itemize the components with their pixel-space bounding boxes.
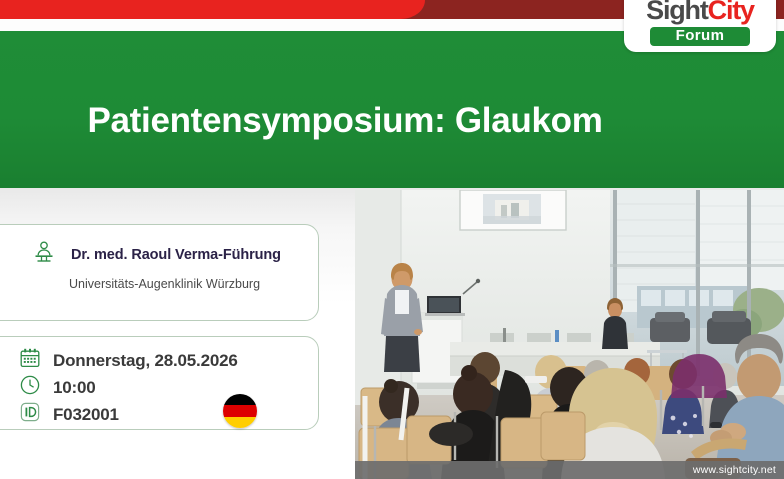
speaker-name: Dr. med. Raoul Verma-Führung: [71, 247, 281, 263]
top-stripe-bright-red: [0, 0, 425, 19]
flag-band-gold: [223, 417, 257, 428]
flag-band-red: [223, 405, 257, 416]
logo-forum-bar: Forum: [650, 27, 751, 47]
event-details-card: Donnerstag, 28.05.2026 10:00: [0, 336, 319, 430]
speaker-card: Dr. med. Raoul Verma-Führung Universität…: [0, 224, 319, 321]
german-flag-icon: [223, 394, 257, 428]
event-date-row: Donnerstag, 28.05.2026: [19, 347, 238, 374]
clock-icon: [19, 374, 41, 401]
event-time-row: 10:00: [19, 374, 95, 401]
presentation-banner: Patientensymposium: Glaukom SightCity Fo…: [0, 0, 784, 479]
event-id-row: F032001: [19, 401, 119, 428]
sightcity-forum-logo[interactable]: SightCity Forum: [624, 0, 776, 52]
speaker-podium-icon: [31, 239, 57, 270]
speaker-name-row: Dr. med. Raoul Verma-Führung: [31, 239, 281, 270]
logo-city-text: City: [708, 0, 754, 25]
lecture-hall-photo: www.sightcity.net: [355, 190, 784, 479]
watermark-text: www.sightcity.net: [693, 464, 776, 476]
page-title: Patientensymposium: Glaukom: [0, 31, 690, 188]
flag-band-black: [223, 394, 257, 405]
event-id: F032001: [53, 405, 119, 425]
id-badge-icon: [19, 401, 41, 428]
event-date: Donnerstag, 28.05.2026: [53, 351, 238, 371]
event-time: 10:00: [53, 378, 95, 398]
watermark-bar: www.sightcity.net: [355, 461, 784, 479]
logo-wordmark: SightCity: [646, 0, 754, 24]
calendar-icon: [19, 347, 41, 374]
header-band: Patientensymposium: Glaukom: [0, 31, 784, 188]
logo-sight-text: Sight: [646, 0, 708, 25]
speaker-affiliation: Universitäts-Augenklinik Würzburg: [69, 277, 260, 291]
logo-forum-text: Forum: [676, 28, 725, 45]
